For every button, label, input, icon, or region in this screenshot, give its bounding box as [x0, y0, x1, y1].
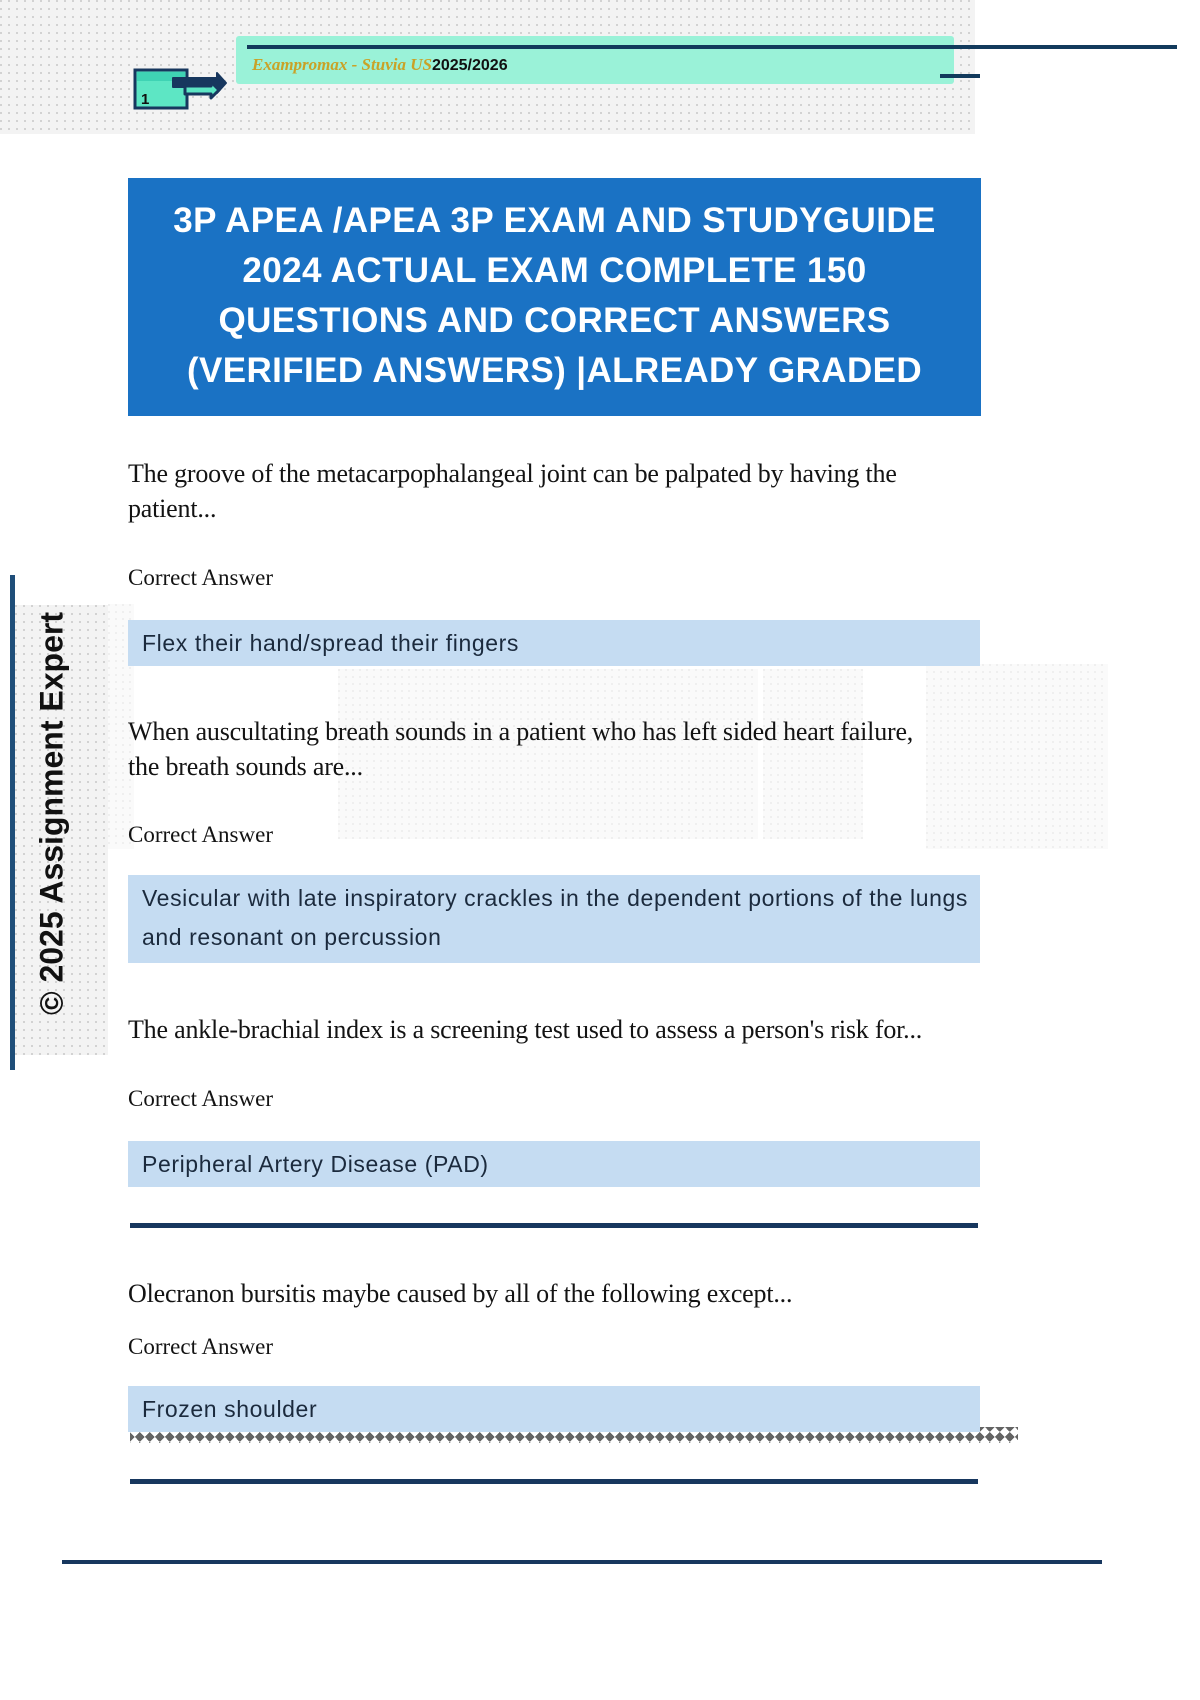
source-attribution-text: Exampromax - Stuvia US2025/2026 — [252, 56, 508, 74]
top-strip-white-gap — [975, 0, 1200, 134]
question-text: Olecranon bursitis maybe caused by all o… — [128, 1276, 988, 1311]
qa-block: When auscultating breath sounds in a pat… — [128, 714, 998, 963]
svg-text:1: 1 — [141, 91, 149, 108]
question-text: When auscultating breath sounds in a pat… — [128, 714, 918, 784]
copyright-notice: © 2025 Assignment Expert — [34, 579, 71, 1049]
qa-block: The ankle-brachial index is a screening … — [128, 1012, 998, 1187]
qa-block: The groove of the metacarpophalangeal jo… — [128, 456, 998, 666]
block-divider — [130, 1222, 978, 1228]
page-title: 3P APEA /APEA 3P EXAM AND STUDYGUIDE 202… — [154, 196, 955, 396]
document-page: 3P APEA /APEA 3P EXAM AND STUDYGUIDE 202… — [108, 134, 1108, 1700]
bottom-edge-rule — [62, 1560, 1102, 1564]
correct-answer-label: Correct Answer — [128, 821, 998, 849]
correct-answer-label: Correct Answer — [128, 564, 998, 592]
qa-block: Olecranon bursitis maybe caused by all o… — [128, 1276, 998, 1432]
document-title-banner: 3P APEA /APEA 3P EXAM AND STUDYGUIDE 202… — [128, 178, 981, 416]
answer-text: Vesicular with late inspiratory crackles… — [128, 875, 980, 963]
correct-answer-label: Correct Answer — [128, 1085, 998, 1113]
source-year: 2025/2026 — [432, 57, 508, 74]
copyright-rail: © 2025 Assignment Expert — [0, 575, 108, 1070]
correct-answer-label: Correct Answer — [128, 1333, 998, 1361]
answer-text: Peripheral Artery Disease (PAD) — [128, 1141, 980, 1187]
question-text: The groove of the metacarpophalangeal jo… — [128, 456, 988, 526]
source-top-rule — [247, 45, 1177, 49]
source-secondary-rule — [940, 74, 980, 78]
answer-text: Frozen shoulder — [128, 1386, 980, 1432]
bookmark-arrow-icon: 1 — [133, 66, 228, 111]
answer-text: Flex their hand/spread their fingers — [128, 620, 980, 666]
footer-divider — [130, 1479, 978, 1484]
source-name: Exampromax - Stuvia US — [252, 55, 432, 74]
question-text: The ankle-brachial index is a screening … — [128, 1012, 948, 1047]
